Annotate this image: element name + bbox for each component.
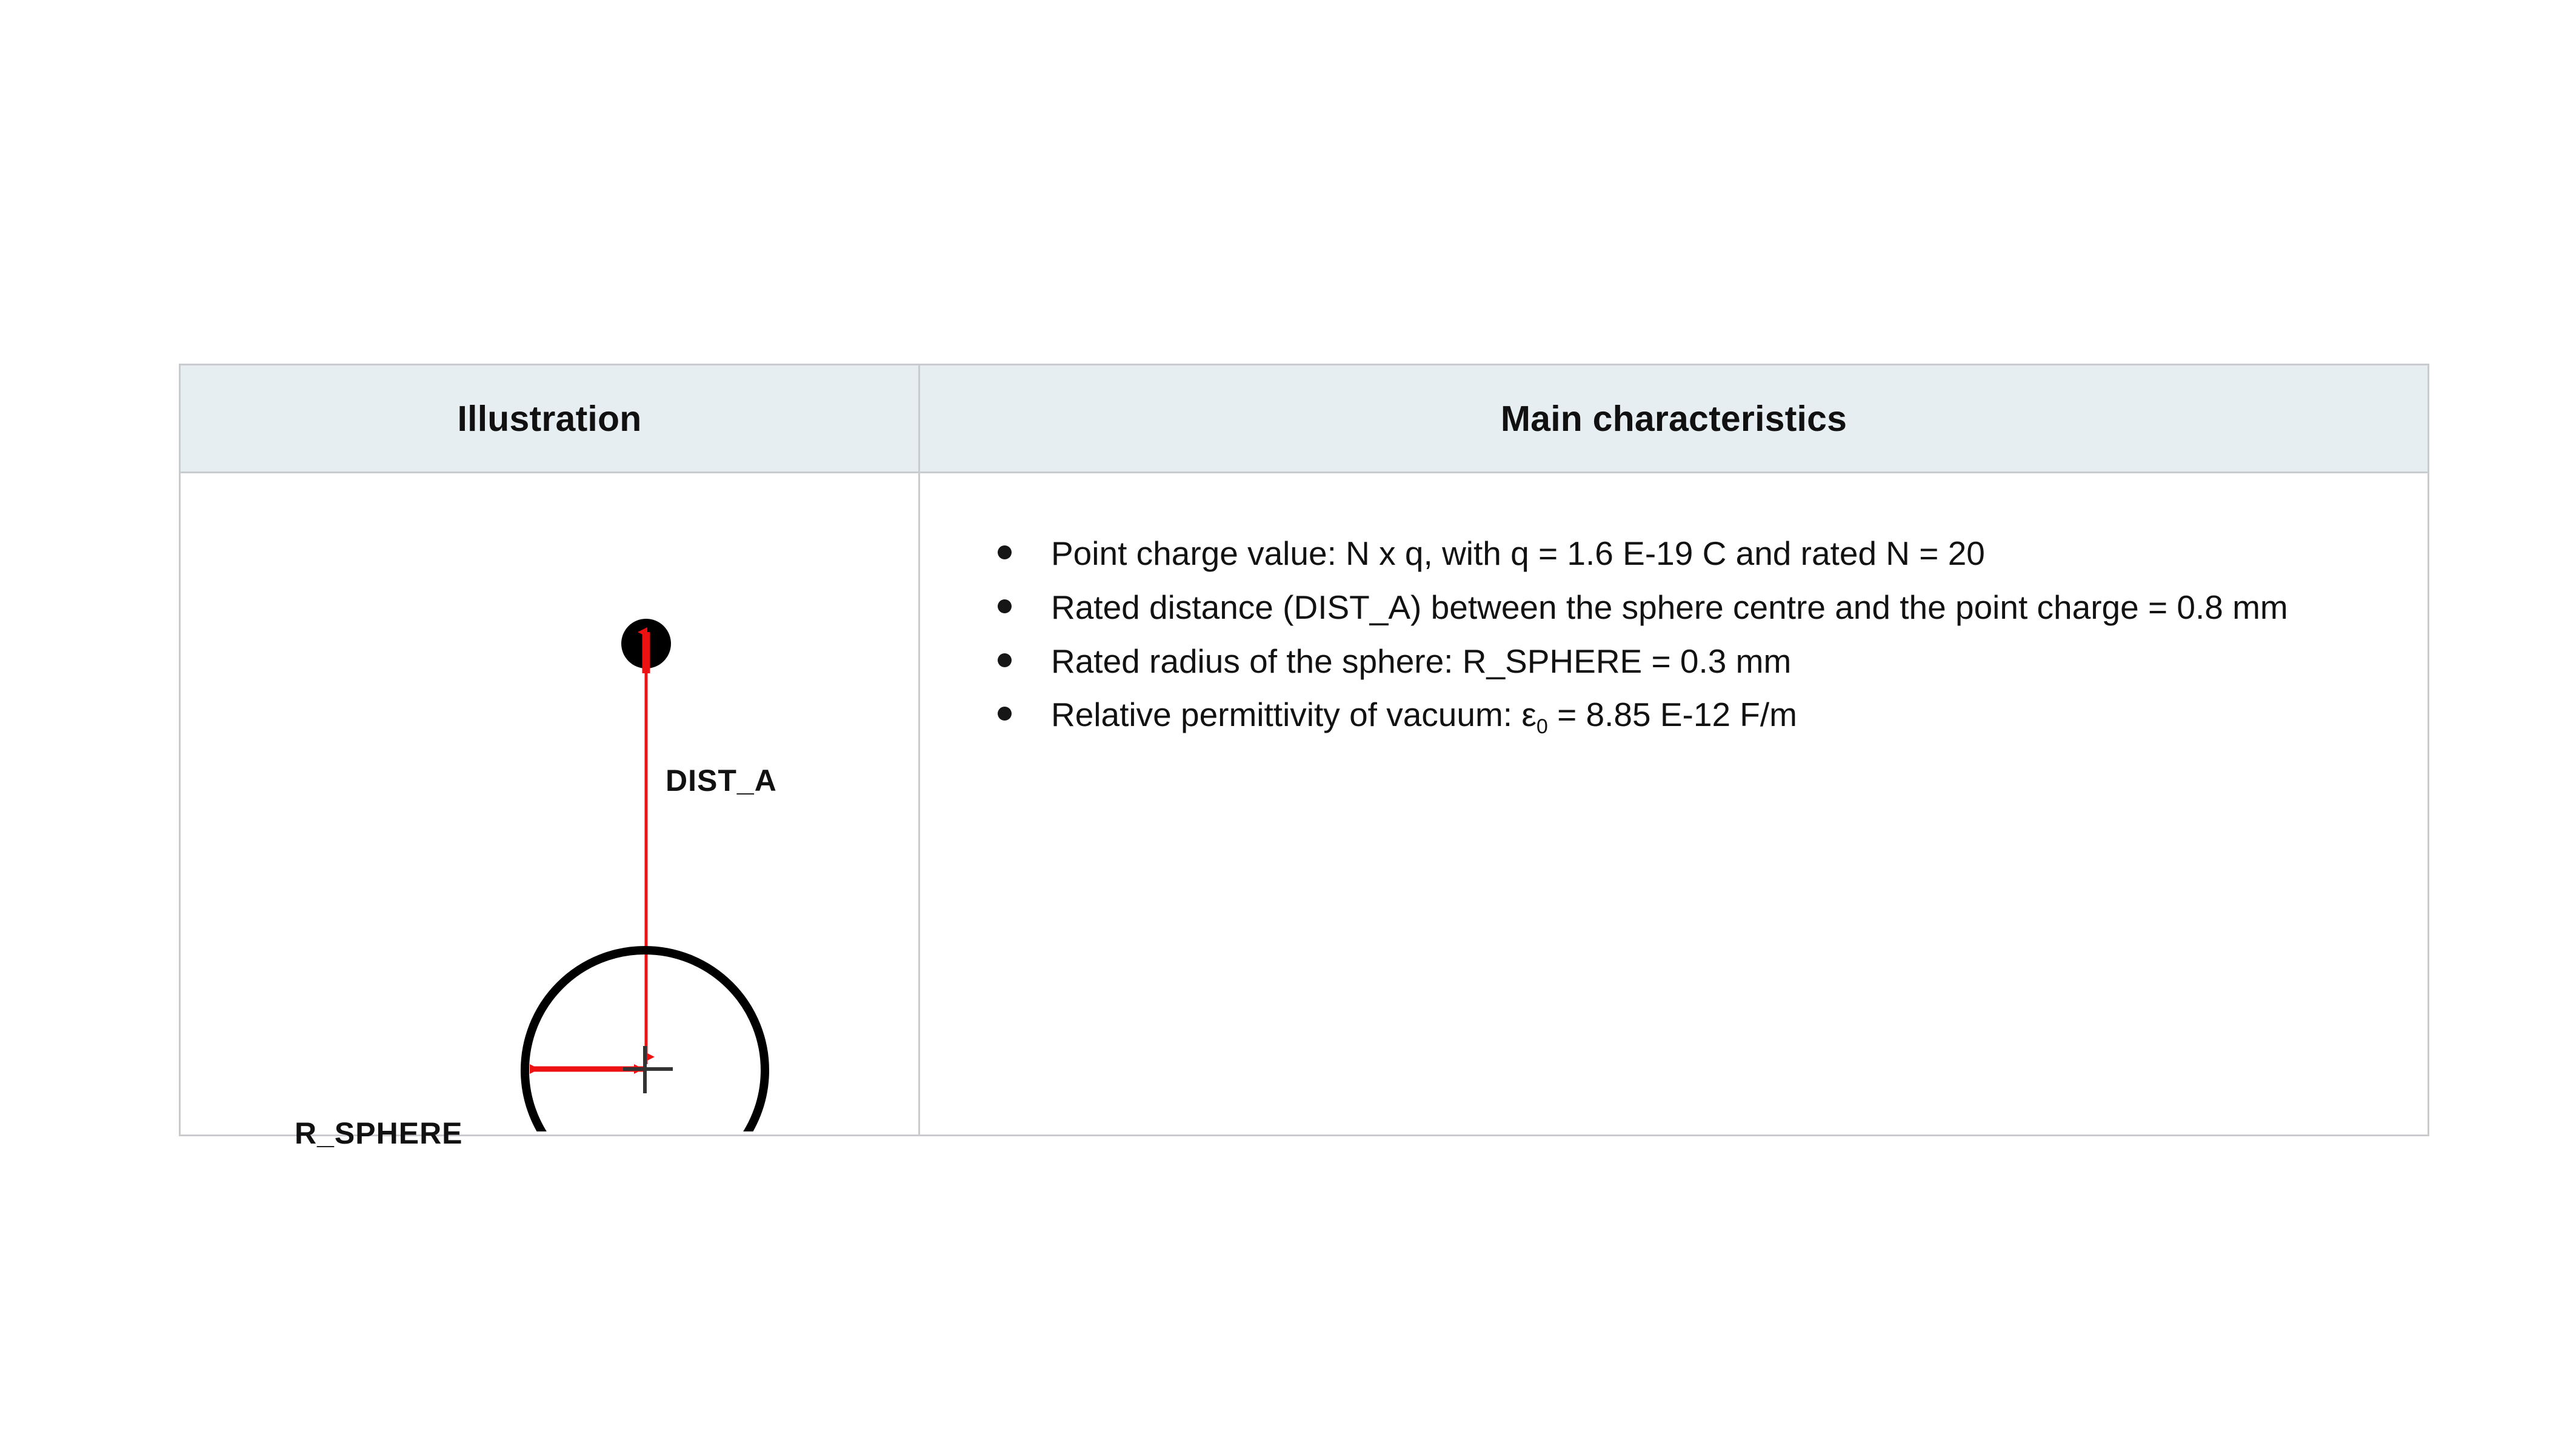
column-header-main-characteristics: Main characteristics — [919, 365, 2429, 473]
table-header-row-group: Illustration Main characteristics — [180, 365, 2429, 473]
specification-table-container: Illustration Main characteristics — [179, 364, 2429, 1136]
diagram-label-r-sphere: R_SPHERE — [295, 1116, 463, 1151]
characteristics-list: Point charge value: N x q, with q = 1.6 … — [920, 473, 2428, 738]
list-item: Rated radius of the sphere: R_SPHERE = 0… — [992, 639, 2355, 684]
illustration-cell: DIST_A R_SPHERE — [180, 473, 919, 1136]
column-header-illustration: Illustration — [180, 365, 919, 473]
list-item: Point charge value: N x q, with q = 1.6 … — [992, 531, 2355, 576]
table-body: DIST_A R_SPHERE Point charge value: N x … — [180, 473, 2429, 1136]
list-item-text-after: = 8.85 E-12 F/m — [1548, 696, 1797, 733]
list-item-text-before: Relative permittivity of vacuum: ε — [1051, 696, 1537, 733]
bullet-icon — [998, 653, 1012, 667]
table-header-row: Illustration Main characteristics — [180, 365, 2429, 473]
list-item-subscript: 0 — [1537, 715, 1548, 738]
table-row: DIST_A R_SPHERE Point charge value: N x … — [180, 473, 2429, 1136]
specification-table: Illustration Main characteristics — [179, 364, 2429, 1136]
illustration-diagram: DIST_A R_SPHERE — [181, 473, 916, 1131]
main-characteristics-cell: Point charge value: N x q, with q = 1.6 … — [919, 473, 2429, 1136]
list-item-text: Rated distance (DIST_A) between the sphe… — [1051, 588, 2288, 626]
list-item-text: Rated radius of the sphere: R_SPHERE = 0… — [1051, 642, 1791, 680]
diagram-svg — [181, 473, 916, 1131]
bullet-icon — [998, 545, 1012, 559]
bullet-icon — [998, 599, 1012, 613]
diagram-label-dist-a: DIST_A — [666, 763, 777, 798]
list-item-text: Point charge value: N x q, with q = 1.6 … — [1051, 535, 1985, 572]
bullet-icon — [998, 707, 1012, 721]
list-item: Rated distance (DIST_A) between the sphe… — [992, 585, 2355, 630]
list-item: Relative permittivity of vacuum: ε0 = 8.… — [992, 692, 2355, 738]
